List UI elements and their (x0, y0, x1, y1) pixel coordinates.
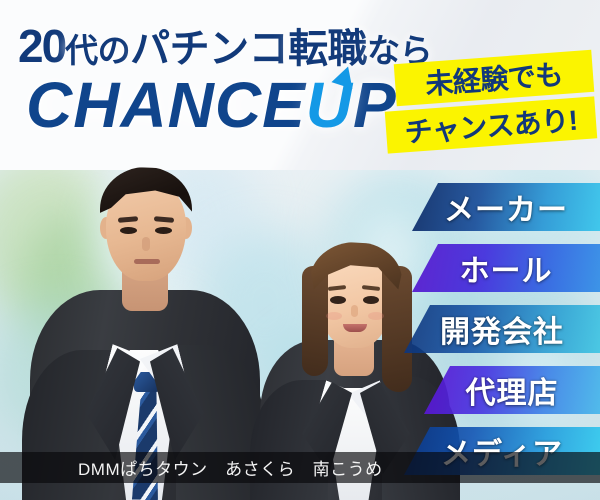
man-eye-left (120, 227, 137, 234)
logo-chance-text: CHANCE (26, 69, 306, 141)
woman-blush-right (368, 312, 384, 320)
headline-mid: 代の (65, 32, 130, 69)
man-in-suit-photo (30, 155, 260, 500)
headline-katakana: パチンコ (130, 27, 288, 71)
recruitment-banner[interactable]: 20代のパチンコ転職なら CHANCEUP 未経験でも チャンスあり! メーカー… (0, 0, 600, 500)
category-button-developer[interactable]: 開発会社 (404, 305, 600, 353)
category-button-maker[interactable]: メーカー (412, 183, 600, 231)
headline-number: 20 (18, 20, 65, 72)
credit-strip: DMMぱちタウン あさくら 南こうめ (0, 452, 600, 483)
logo-u-letter: U (306, 68, 353, 142)
woman-eye-left (330, 296, 346, 304)
headline: 20代のパチンコ転職なら (18, 16, 432, 74)
woman-blush-left (326, 312, 342, 320)
man-nose (142, 237, 150, 251)
woman-nose (351, 305, 358, 317)
man-eye-right (155, 227, 172, 234)
category-button-hall[interactable]: ホール (412, 244, 600, 292)
woman-eye-right (363, 296, 379, 304)
category-button-agency[interactable]: 代理店 (424, 366, 600, 414)
chance-up-logo: CHANCEUP (26, 68, 397, 142)
man-mouth (134, 259, 160, 264)
headline-kanji: 転職 (288, 27, 367, 71)
